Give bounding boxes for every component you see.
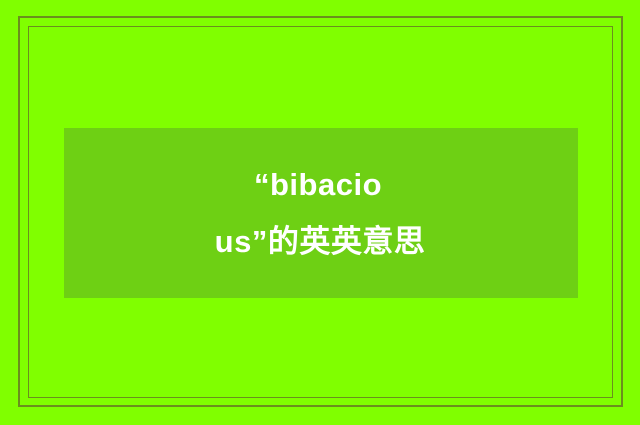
title-line-1: “bibacio bbox=[254, 156, 388, 213]
title-line-2: us”的英英意思 bbox=[215, 213, 428, 270]
title-panel: “bibacio us”的英英意思 bbox=[64, 128, 578, 298]
poster-canvas: “bibacio us”的英英意思 bbox=[0, 0, 640, 425]
